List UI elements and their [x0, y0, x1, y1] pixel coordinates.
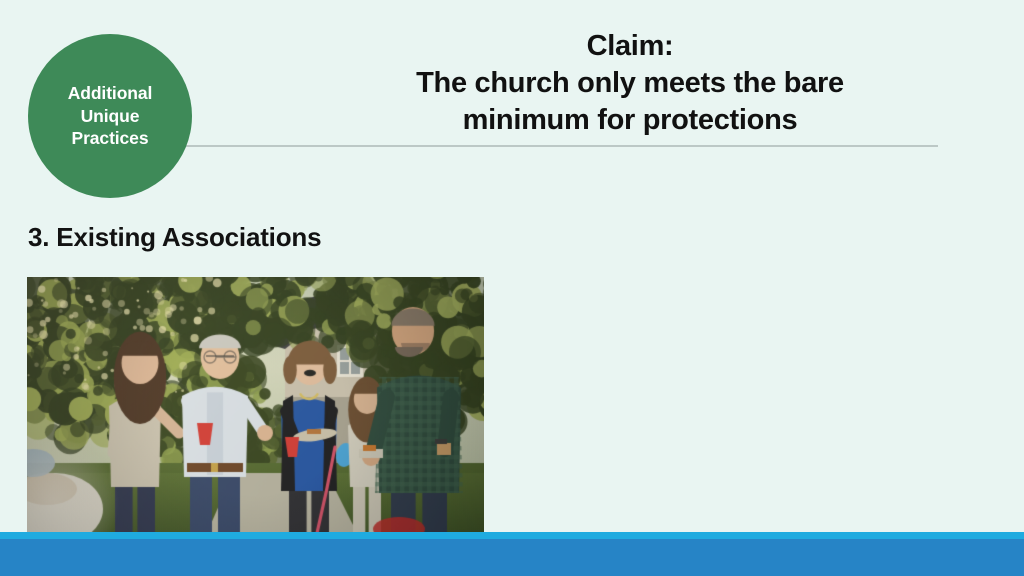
section-heading: 3. Existing Associations: [28, 222, 321, 253]
slide-canvas: Additional Unique Practices Claim: The c…: [0, 0, 1024, 576]
photo-canvas: [27, 277, 484, 533]
photo-block-party: [27, 277, 484, 533]
footer-bar: [0, 539, 1024, 576]
footer-accent-bar: [0, 532, 1024, 539]
badge-circle: Additional Unique Practices: [28, 34, 192, 198]
badge-label: Additional Unique Practices: [60, 82, 161, 149]
header-divider: [186, 145, 938, 147]
page-title: Claim: The church only meets the bare mi…: [290, 28, 970, 138]
